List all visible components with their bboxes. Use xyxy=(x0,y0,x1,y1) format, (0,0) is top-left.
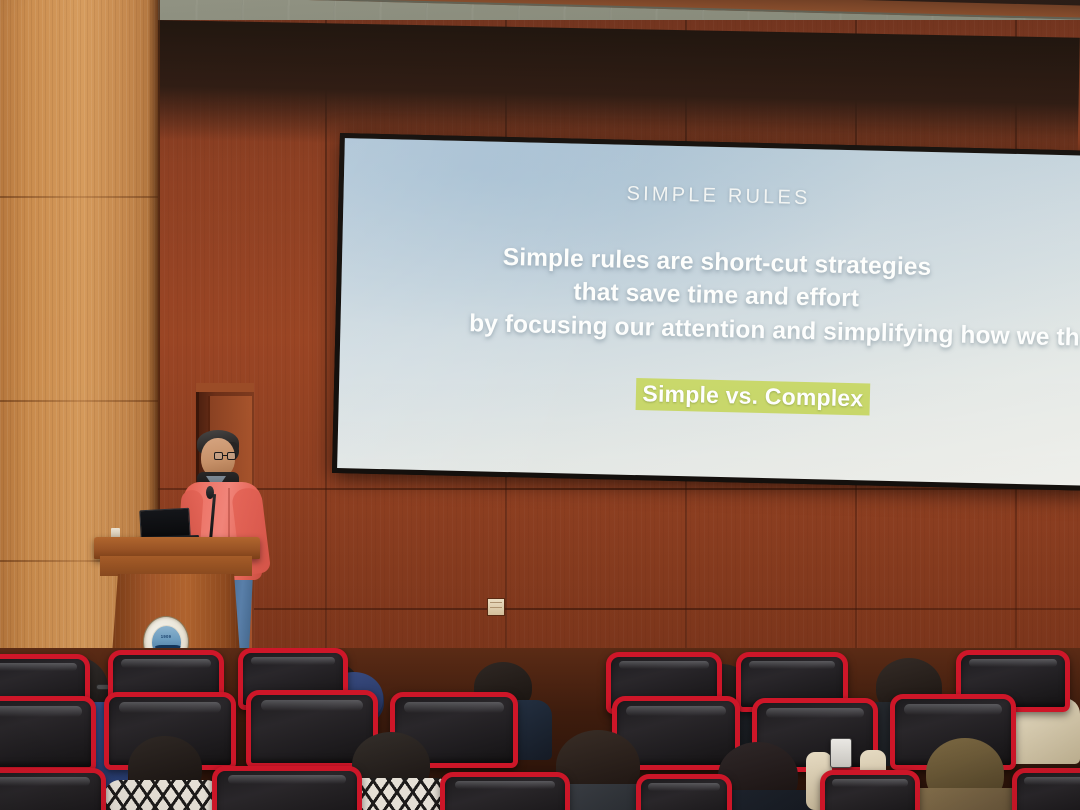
back-wall-upper-shadow xyxy=(153,20,1080,158)
auditorium-seat[interactable] xyxy=(0,768,106,810)
projection-screen-frame: SIMPLE RULES Simple rules are short-cut … xyxy=(332,133,1080,491)
podium-apron xyxy=(100,556,252,576)
door-header xyxy=(196,383,254,392)
audience-body xyxy=(104,780,222,810)
slide-highlight-text: Simple vs. Complex xyxy=(635,378,871,416)
microphone-icon xyxy=(206,486,214,499)
auditorium-seat[interactable] xyxy=(1012,768,1080,810)
smartphone-icon xyxy=(830,738,852,768)
auditorium-seat[interactable] xyxy=(820,770,920,810)
slide-title: SIMPLE RULES xyxy=(626,183,811,210)
audience-area xyxy=(0,648,1080,810)
slide-body-text: Simple rules are short-cut strategies th… xyxy=(351,237,1080,354)
auditorium-seat[interactable] xyxy=(636,774,732,810)
auditorium-seat[interactable] xyxy=(212,766,362,810)
audience-body xyxy=(902,788,1028,810)
lecture-hall-photo: SIMPLE RULES Simple rules are short-cut … xyxy=(0,0,1080,810)
glasses-icon xyxy=(214,452,238,460)
wall-outlet-plate xyxy=(487,598,505,616)
crest-year: 1909 xyxy=(152,634,181,639)
slide-highlight-row: Simple vs. Complex xyxy=(635,378,871,416)
projection-screen-surface: SIMPLE RULES Simple rules are short-cut … xyxy=(337,138,1080,486)
auditorium-seat[interactable] xyxy=(0,696,96,772)
presentation-slide: SIMPLE RULES Simple rules are short-cut … xyxy=(337,138,1080,486)
auditorium-seat[interactable] xyxy=(440,772,570,810)
